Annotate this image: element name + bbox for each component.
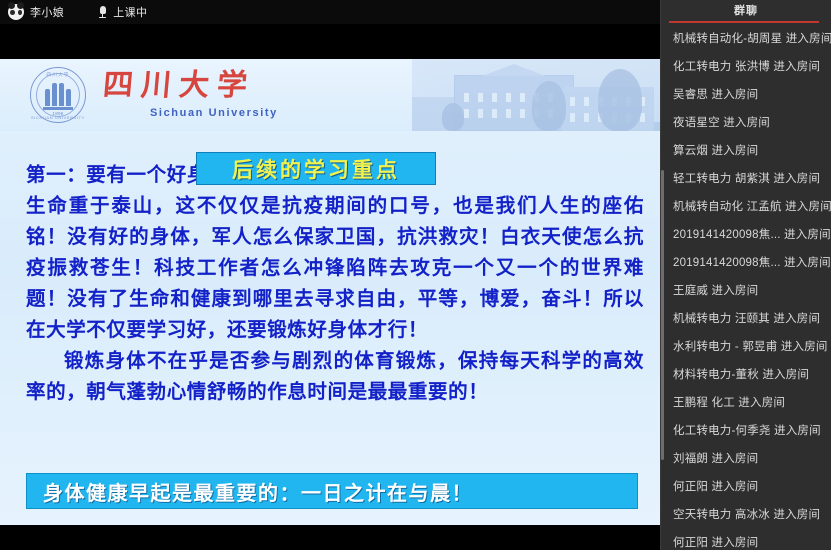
chat-message: 化工转电力-何季尧 进入房间	[661, 417, 831, 445]
chat-message: 轻工转电力 胡紫淇 进入房间	[661, 165, 831, 193]
group-chat-panel: 群聊 机械转自动化-胡周星 进入房间化工转电力 张洪博 进入房间吴睿思 进入房间…	[660, 0, 831, 550]
app-root: 李小娘 上课中	[0, 0, 831, 550]
chat-message: 刘福朗 进入房间	[661, 445, 831, 473]
chat-header-underline	[669, 21, 819, 23]
campus-building-photo	[412, 59, 660, 131]
university-seal-icon: 四川大学 1896 SICHUAN UNIVERSITY	[30, 67, 86, 123]
chat-message: 2019141420098焦... 进入房间	[661, 249, 831, 277]
chat-panel-header: 群聊	[661, 0, 831, 22]
slide-title-text: 后续的学习重点	[232, 154, 400, 184]
chat-message: 水利转电力 - 郭昱甫 进入房间	[661, 333, 831, 361]
slide-stage[interactable]: 四川大学 1896 SICHUAN UNIVERSITY 四川大学 Sichua…	[0, 24, 660, 550]
slide-bottom-banner-text: 身体健康早起是最重要的：一日之计在与晨！	[43, 477, 473, 506]
slide-title-box: 后续的学习重点	[196, 152, 436, 185]
chat-header-title: 群聊	[734, 2, 758, 18]
chat-message: 王庭威 进入房间	[661, 277, 831, 305]
chat-message: 机械转自动化 江孟航 进入房间	[661, 193, 831, 221]
chat-message: 夜语星空 进入房间	[661, 109, 831, 137]
chat-message: 机械转电力 汪颐其 进入房间	[661, 305, 831, 333]
university-name-pinyin: Sichuan University	[150, 107, 278, 119]
chat-message-list[interactable]: 机械转自动化-胡周星 进入房间化工转电力 张洪博 进入房间吴睿思 进入房间夜语星…	[661, 25, 831, 550]
slide-paragraph: 锻炼身体不在乎是否参与剧烈的体育锻炼，保持每天科学的高效率的，朝气蓬勃心情舒畅的…	[26, 345, 644, 407]
chat-message: 2019141420098焦... 进入房间	[661, 221, 831, 249]
chat-message: 王鹏程 化工 进入房间	[661, 389, 831, 417]
chat-scrollbar[interactable]	[661, 170, 664, 460]
chat-message: 何正阳 进入房间	[661, 529, 831, 550]
seal-ring-top-text: 四川大学	[31, 72, 85, 78]
chat-message: 机械转自动化-胡周星 进入房间	[661, 25, 831, 53]
slide-paragraph: 生命重于泰山，这不仅仅是抗疫期间的口号，也是我们人生的座佑铭！没有好的身体，军人…	[26, 190, 644, 345]
chat-message: 何正阳 进入房间	[661, 473, 831, 501]
chat-message: 空天转电力 高冰冰 进入房间	[661, 501, 831, 529]
chat-message: 算云烟 进入房间	[661, 137, 831, 165]
panda-avatar-icon[interactable]	[8, 4, 24, 20]
university-name-calligraphy: 四川大学	[102, 71, 257, 101]
username-label: 李小娘	[30, 4, 64, 20]
slide-header-band: 四川大学 1896 SICHUAN UNIVERSITY 四川大学 Sichua…	[0, 59, 660, 131]
slide-bottom-banner: 身体健康早起是最重要的：一日之计在与晨！	[26, 473, 638, 509]
class-status-label: 上课中	[113, 4, 147, 20]
microphone-icon[interactable]	[98, 6, 107, 19]
top-bar: 李小娘 上课中	[0, 0, 660, 24]
presentation-slide: 四川大学 1896 SICHUAN UNIVERSITY 四川大学 Sichua…	[0, 59, 660, 525]
chat-message: 材料转电力-董秋 进入房间	[661, 361, 831, 389]
seal-ring-bottom-text: SICHUAN UNIVERSITY	[31, 115, 85, 120]
chat-message: 化工转电力 张洪博 进入房间	[661, 53, 831, 81]
chat-message: 吴睿思 进入房间	[661, 81, 831, 109]
